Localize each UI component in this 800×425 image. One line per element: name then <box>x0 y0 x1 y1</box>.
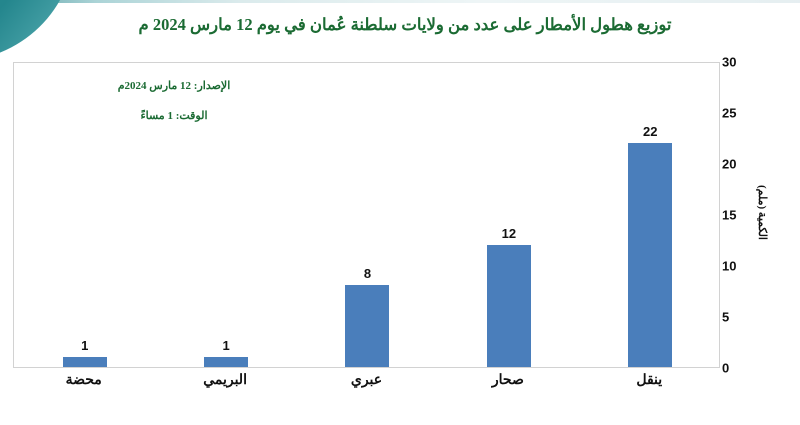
page-title: توزيع هطول الأمطار على عدد من ولايات سلط… <box>60 14 750 35</box>
x-axis-tick-label: البريمي <box>154 372 295 389</box>
bar[interactable] <box>204 357 248 367</box>
y-axis-tick-label: 15 <box>722 208 752 223</box>
y-axis-title: الكمية (ملم) <box>756 185 769 240</box>
x-axis-tick-label: محضة <box>13 372 154 389</box>
bar[interactable] <box>63 357 107 367</box>
bar-value-label: 8 <box>364 266 371 281</box>
y-axis-tick-label: 5 <box>722 310 752 325</box>
bar[interactable] <box>345 285 389 367</box>
x-axis-tick-label: صحار <box>437 372 578 389</box>
bar-slot: 8 <box>297 63 438 367</box>
y-axis-tick-label: 0 <box>722 361 752 376</box>
bar[interactable] <box>628 143 672 367</box>
bar-value-label: 22 <box>643 124 657 139</box>
bar-value-label: 1 <box>81 338 88 353</box>
y-axis-tick-label: 20 <box>722 157 752 172</box>
bar-slot: 1 <box>155 63 296 367</box>
bar-slot: 12 <box>438 63 579 367</box>
top-accent-rule <box>0 0 800 3</box>
chart-plot-area: الإصدار: 12 مارس 2024م الوقت: 1 مساءً 11… <box>13 62 720 368</box>
bar-value-label: 12 <box>502 226 516 241</box>
bar[interactable] <box>487 245 531 367</box>
y-axis-tick-label: 30 <box>722 55 752 70</box>
x-axis-tick-label: ينقل <box>579 372 720 389</box>
y-axis-tick-label: 10 <box>722 259 752 274</box>
bar-slot: 1 <box>14 63 155 367</box>
bar-value-label: 1 <box>222 338 229 353</box>
x-axis: محضةالبريميعبريصحارينقل <box>13 372 720 400</box>
y-axis-tick-label: 25 <box>722 106 752 121</box>
y-axis: 051015202530 <box>722 62 752 368</box>
x-axis-tick-label: عبري <box>296 372 437 389</box>
bar-series: 1181222 <box>14 63 719 367</box>
slide-canvas: توزيع هطول الأمطار على عدد من ولايات سلط… <box>0 0 800 425</box>
bar-slot: 22 <box>580 63 721 367</box>
